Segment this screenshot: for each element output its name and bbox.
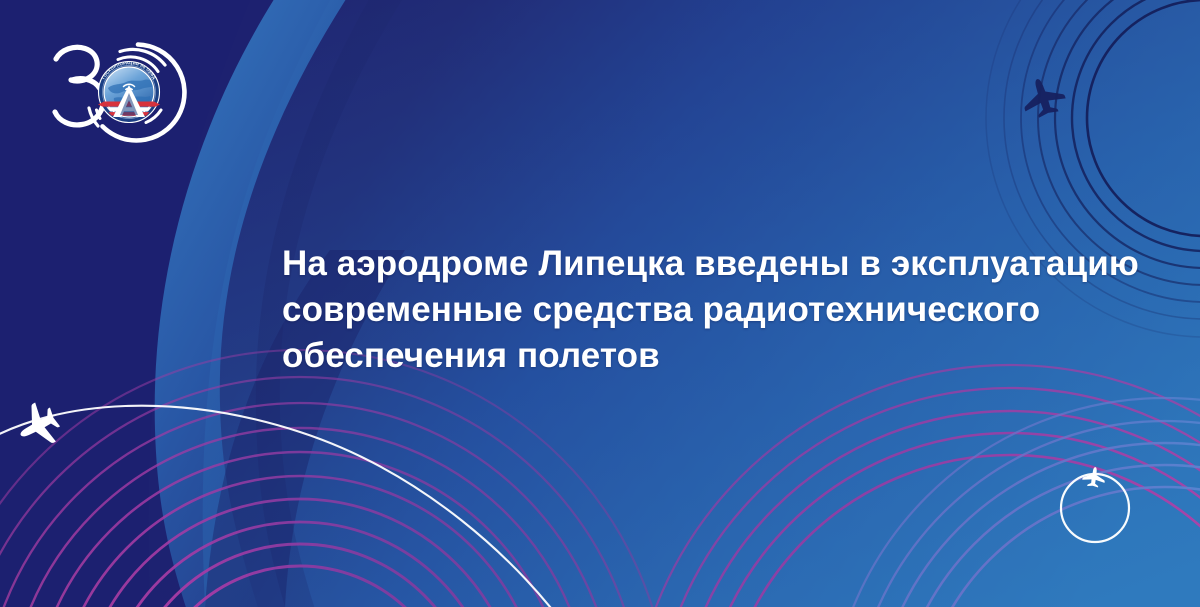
headline-line-1: На аэродроме Липецка введены в эксплуата… (282, 241, 1172, 287)
anniversary-logo: ГОСКОРПОРАЦИЯ по ОрВД (28, 30, 203, 155)
gk-ovd-emblem: ГОСКОРПОРАЦИЯ по ОрВД (98, 60, 160, 122)
headline-line-3: обеспечения полетов (282, 333, 1172, 379)
headline: На аэродроме Липецка введены в эксплуата… (282, 241, 1172, 379)
logo-svg: ГОСКОРПОРАЦИЯ по ОрВД (28, 30, 203, 155)
banner-root: ГОСКОРПОРАЦИЯ по ОрВД На аэродроме Липец… (0, 0, 1200, 607)
headline-line-2: современные средства радиотехнического (282, 287, 1172, 333)
